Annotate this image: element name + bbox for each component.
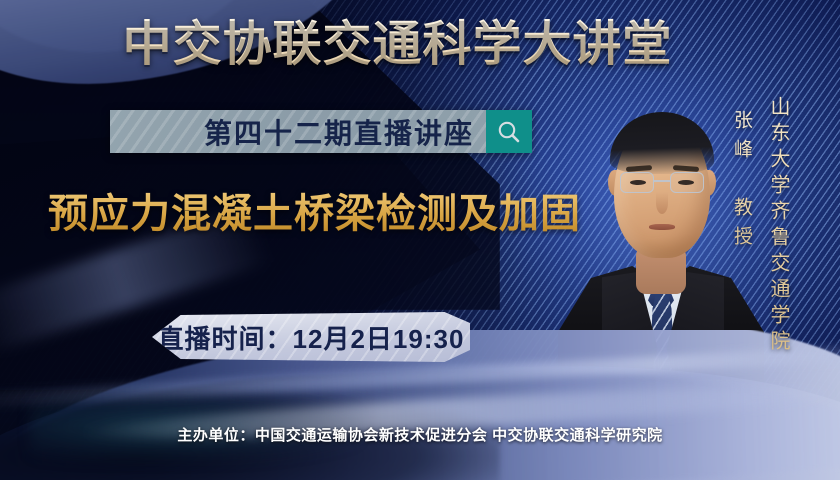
- search-button[interactable]: [486, 110, 532, 153]
- page-title: 中交协联交通科学大讲堂: [123, 18, 673, 72]
- live-lecture-poster: 中交协联交通科学大讲堂 第四十二期直播讲座 预应力混凝土桥梁检测及加固 直播时间…: [0, 0, 840, 480]
- organizer-footer: 主办单位：中国交通运输协会新技术促进分会 中交协联交通科学研究院: [0, 424, 840, 445]
- glasses-lens-right: [670, 172, 704, 193]
- portrait-nose: [656, 192, 668, 214]
- glasses-lens-left: [620, 172, 654, 193]
- episode-banner-body: 第四十二期直播讲座: [110, 110, 486, 153]
- search-icon: [496, 119, 522, 145]
- lecture-title: 预应力混凝土桥梁检测及加固: [48, 190, 581, 238]
- speaker-name-title: 张峰 教授: [728, 110, 755, 255]
- episode-label: 第四十二期直播讲座: [204, 112, 474, 152]
- broadcast-time-badge: 直播时间：12月2日19:30: [152, 312, 470, 362]
- glasses-bridge: [654, 180, 670, 182]
- speaker-affiliation: 山东大学齐鲁交通学院: [764, 96, 793, 356]
- broadcast-time-label: 直播时间：12月2日19:30: [158, 319, 465, 356]
- episode-banner[interactable]: 第四十二期直播讲座: [110, 110, 532, 153]
- portrait-mouth: [649, 224, 675, 230]
